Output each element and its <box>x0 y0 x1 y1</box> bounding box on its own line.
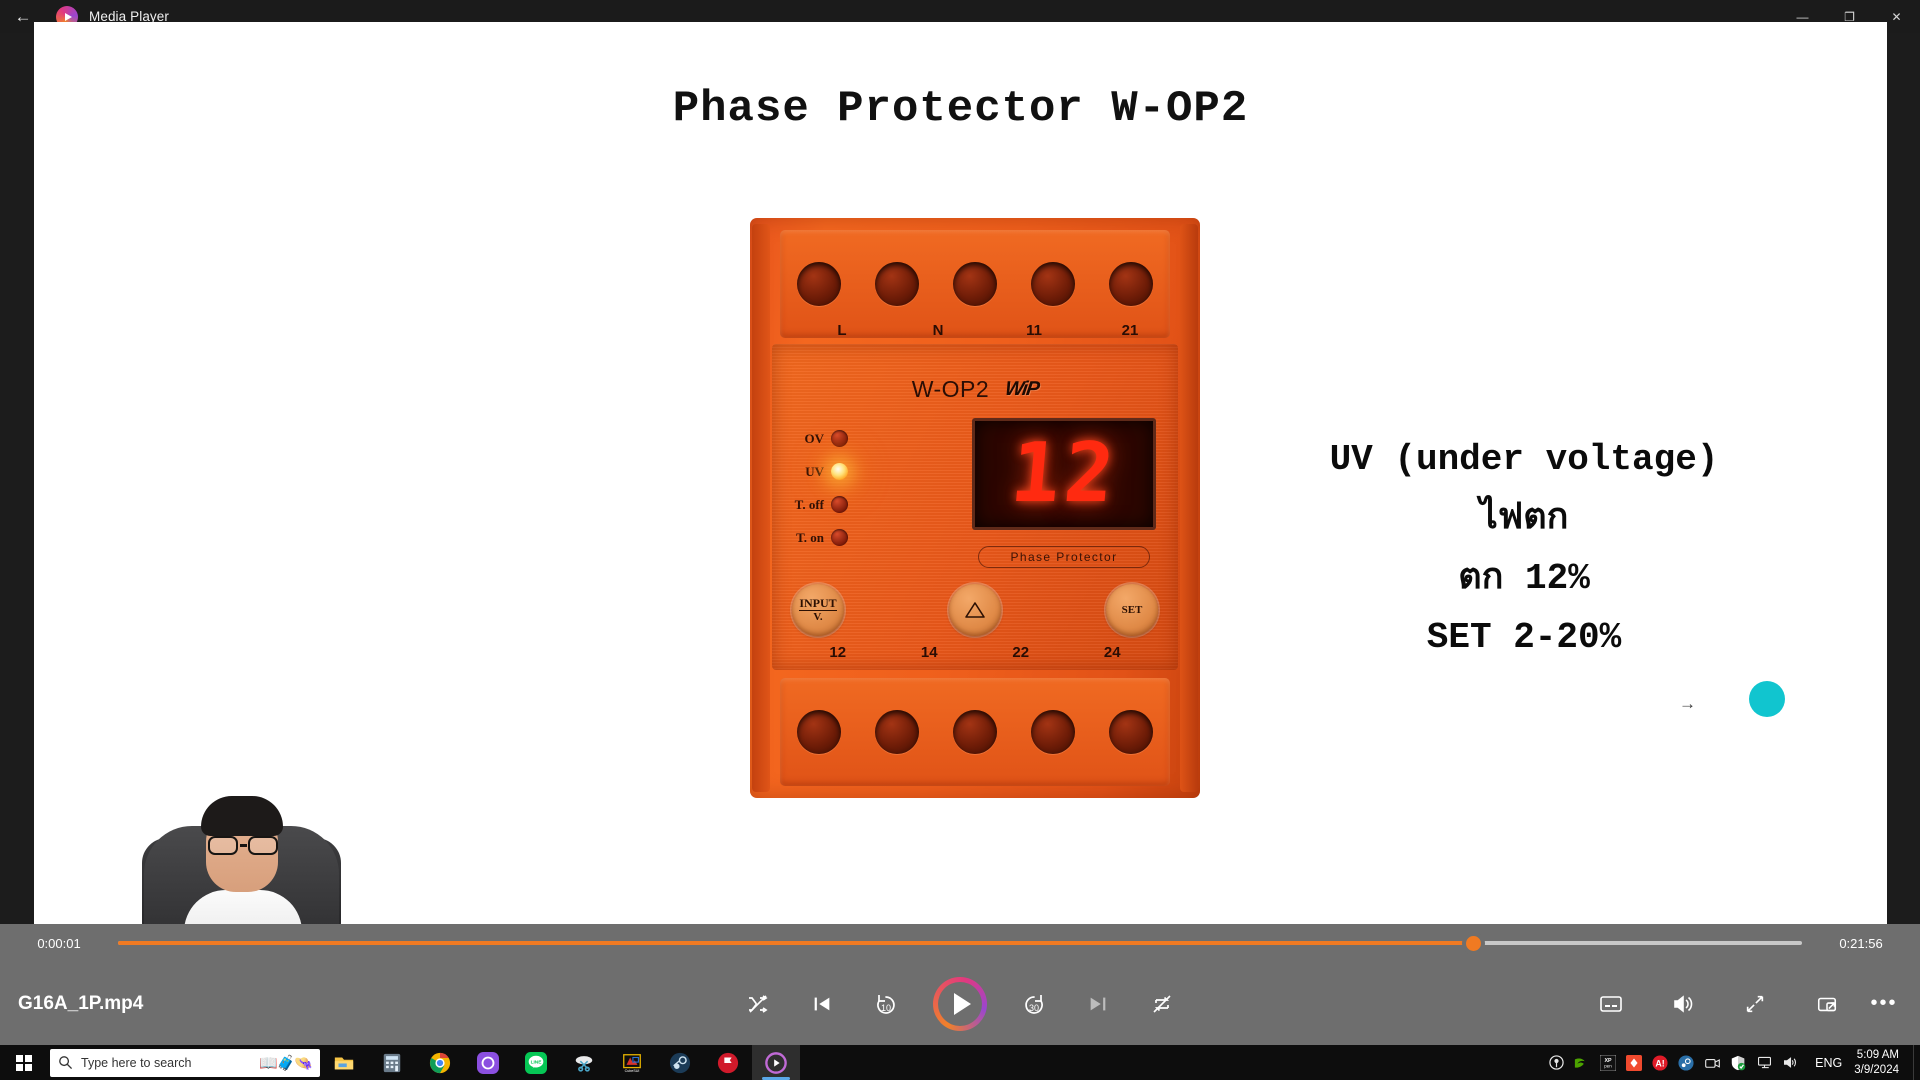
phase-protector-device-photo: L N 11 21 W-OP2 WiP OV UV <box>750 218 1200 798</box>
location-icon[interactable] <box>1543 1045 1569 1080</box>
svg-text:LINE: LINE <box>531 1059 542 1065</box>
bottom-terminal-numbers: 12 14 22 24 <box>792 644 1158 661</box>
terminal-number-14: 14 <box>884 644 976 661</box>
svg-text:10: 10 <box>881 1003 891 1013</box>
terminal-label-n: N <box>890 322 986 339</box>
windows-taskbar: Type here to search 📖🧳👒 <box>0 1045 1920 1080</box>
device-brand-row: W-OP2 WiP <box>772 376 1178 403</box>
terminal-screw <box>1031 710 1075 754</box>
fullscreen-icon[interactable] <box>1738 987 1772 1021</box>
terminal-number-24: 24 <box>1067 644 1159 661</box>
language-indicator[interactable]: ENG <box>1803 1056 1854 1070</box>
search-placeholder: Type here to search <box>81 1056 251 1070</box>
bottom-terminal-block <box>780 678 1170 786</box>
terminal-screw <box>953 710 997 754</box>
svg-text:30: 30 <box>1029 1003 1039 1013</box>
xp-pen-icon[interactable]: XP pen <box>1595 1045 1621 1080</box>
terminal-number-22: 22 <box>975 644 1067 661</box>
nvidia-icon[interactable] <box>1569 1045 1595 1080</box>
total-duration: 0:21:56 <box>1802 936 1920 951</box>
rewind-10-icon[interactable]: 10 <box>869 987 903 1021</box>
device-front-panel: W-OP2 WiP OV UV T. off <box>772 344 1178 670</box>
steam-tray-icon[interactable] <box>1673 1045 1699 1080</box>
calculator-icon <box>381 1052 403 1074</box>
taskbar-app-line[interactable]: LINE <box>512 1045 560 1080</box>
taskbar-app-snipping-tool[interactable] <box>560 1045 608 1080</box>
wip-logo: WiP <box>1004 378 1040 401</box>
orange-app-icon[interactable] <box>1621 1045 1647 1080</box>
previous-track-icon[interactable] <box>805 987 839 1021</box>
phase-protector-pill-label: Phase Protector <box>978 546 1150 568</box>
taskbar-app-cube-suite[interactable]: CubeSUI <box>608 1045 656 1080</box>
seven-segment-display: 12 <box>972 418 1156 530</box>
show-desktop-button[interactable] <box>1913 1045 1920 1080</box>
a-app-icon[interactable]: A! <box>1647 1045 1673 1080</box>
cursor-arrow-icon: → <box>1679 694 1696 714</box>
slide-title: Phase Protector W-OP2 <box>34 84 1887 134</box>
glasses-lens-left <box>208 836 238 855</box>
led-label-uv: UV <box>788 464 824 480</box>
terminal-label-11: 11 <box>986 322 1082 339</box>
terminal-screw <box>1109 710 1153 754</box>
taskbar-app-red[interactable] <box>704 1045 752 1080</box>
player-control-bar: G16A_1P.mp4 10 <box>0 962 1920 1045</box>
triangle-icon <box>963 600 987 620</box>
more-options-button[interactable]: ••• <box>1862 962 1906 1045</box>
led-row-ov: OV <box>788 422 848 455</box>
taskbar-app-file-explorer[interactable] <box>320 1045 368 1080</box>
device-button-row: INPUT V. SET <box>792 584 1158 636</box>
led-row-uv: UV <box>788 455 848 488</box>
svg-text:pen: pen <box>1604 1063 1612 1068</box>
avatar-hair <box>201 796 283 836</box>
led-label-t-off: T. off <box>788 497 824 513</box>
media-player-taskbar-icon <box>765 1052 787 1074</box>
glasses-bridge <box>240 844 247 846</box>
terminal-screw <box>875 710 919 754</box>
caption-text-block: UV (under voltage) ไฟตก ตก 12% SET 2-20% <box>1214 430 1834 668</box>
caption-line-uv: UV (under voltage) <box>1214 430 1834 489</box>
clock-date: 3/9/2024 <box>1854 1063 1899 1078</box>
terminal-screw <box>953 262 997 306</box>
windows-logo-icon <box>16 1055 32 1071</box>
caption-line-thai-faitok: ไฟตก <box>1214 489 1834 548</box>
taskbar-app-purple[interactable] <box>464 1045 512 1080</box>
volume-tray-icon[interactable] <box>1777 1045 1803 1080</box>
terminal-label-l: L <box>794 322 890 339</box>
seek-slider[interactable] <box>118 941 1802 945</box>
forward-30-icon[interactable]: 30 <box>1017 987 1051 1021</box>
media-filename: G16A_1P.mp4 <box>18 993 143 1015</box>
device-model-label: W-OP2 <box>912 376 989 403</box>
led-uv-active <box>831 463 848 480</box>
terminal-screw <box>875 262 919 306</box>
steam-icon <box>669 1052 691 1074</box>
folder-icon <box>333 1052 355 1074</box>
captions-icon[interactable] <box>1594 987 1628 1021</box>
clock[interactable]: 5:09 AM 3/9/2024 <box>1854 1048 1913 1078</box>
up-triangle-button[interactable] <box>949 584 1001 636</box>
taskbar-app-steam[interactable] <box>656 1045 704 1080</box>
led-t-off <box>831 496 848 513</box>
terminal-label-21: 21 <box>1082 322 1178 339</box>
search-input[interactable]: Type here to search 📖🧳👒 <box>50 1049 320 1077</box>
led-label-t-on: T. on <box>788 530 824 546</box>
transport-controls: 10 30 <box>741 977 1179 1031</box>
terminal-screw <box>797 710 841 754</box>
line-icon: LINE <box>525 1052 547 1074</box>
input-v-button-line2: V. <box>813 611 822 624</box>
caption-line-thai-tok-12: ตก 12% <box>1214 549 1834 608</box>
secondary-controls <box>1594 987 1844 1021</box>
mini-player-icon[interactable] <box>1810 987 1844 1021</box>
svg-text:CubeSUI: CubeSUI <box>625 1069 640 1073</box>
shuffle-off-icon[interactable] <box>741 987 775 1021</box>
seek-progress-fill <box>118 941 1474 945</box>
terminal-screw <box>1031 262 1075 306</box>
windows-security-icon[interactable] <box>1725 1045 1751 1080</box>
led-indicator-group: OV UV T. off T. on <box>788 422 848 554</box>
led-ov <box>831 430 848 447</box>
seek-bar-row: 0:00:01 0:21:56 <box>0 924 1920 962</box>
presenter-avatar <box>144 782 339 942</box>
seek-thumb[interactable] <box>1466 936 1481 951</box>
clock-time: 5:09 AM <box>1854 1048 1899 1063</box>
device-right-rail <box>1180 224 1198 792</box>
cyan-highlight-dot <box>1749 681 1785 717</box>
chrome-icon <box>429 1052 451 1074</box>
repeat-off-icon[interactable] <box>1145 987 1179 1021</box>
search-emoji-icons: 📖🧳👒 <box>259 1054 312 1072</box>
set-button-label: SET <box>1122 604 1143 617</box>
start-button[interactable] <box>0 1045 48 1080</box>
red-app-icon <box>717 1052 739 1074</box>
purple-app-icon <box>477 1052 499 1074</box>
search-icon <box>58 1055 73 1070</box>
next-track-icon[interactable] <box>1081 987 1115 1021</box>
scissors-icon <box>573 1052 595 1074</box>
taskbar-app-calculator[interactable] <box>368 1045 416 1080</box>
input-v-button-line1: INPUT <box>799 597 836 611</box>
system-tray: XP pen A! <box>1543 1045 1920 1080</box>
svg-text:A!: A! <box>1655 1058 1664 1068</box>
camera-icon[interactable] <box>1699 1045 1725 1080</box>
elapsed-time: 0:00:01 <box>0 936 118 951</box>
cube-suite-icon: CubeSUI <box>621 1052 643 1074</box>
led-row-toff: T. off <box>788 488 848 521</box>
set-button[interactable]: SET <box>1106 584 1158 636</box>
taskbar-app-chrome[interactable] <box>416 1045 464 1080</box>
video-canvas[interactable]: Phase Protector W-OP2 L N 11 21 W <box>34 22 1887 942</box>
led-t-on <box>831 529 848 546</box>
media-player-window: ← Media Player — ❐ ✕ Phase Protector W-O… <box>0 0 1920 1045</box>
display-value: 12 <box>1007 433 1121 515</box>
caption-line-set-range: SET 2-20% <box>1214 608 1834 667</box>
avatar-glasses-icon <box>208 836 278 855</box>
device-left-rail <box>752 224 770 792</box>
terminal-number-12: 12 <box>792 644 884 661</box>
terminal-screw <box>1109 262 1153 306</box>
top-terminal-labels: L N 11 21 <box>772 322 1178 339</box>
input-v-button[interactable]: INPUT V. <box>792 584 844 636</box>
volume-icon[interactable] <box>1666 987 1700 1021</box>
network-icon[interactable] <box>1751 1045 1777 1080</box>
play-button[interactable] <box>933 977 987 1031</box>
led-row-ton: T. on <box>788 521 848 554</box>
led-label-ov: OV <box>788 431 824 447</box>
glasses-lens-right <box>248 836 278 855</box>
terminal-screw <box>797 262 841 306</box>
taskbar-app-media-player[interactable] <box>752 1045 800 1080</box>
